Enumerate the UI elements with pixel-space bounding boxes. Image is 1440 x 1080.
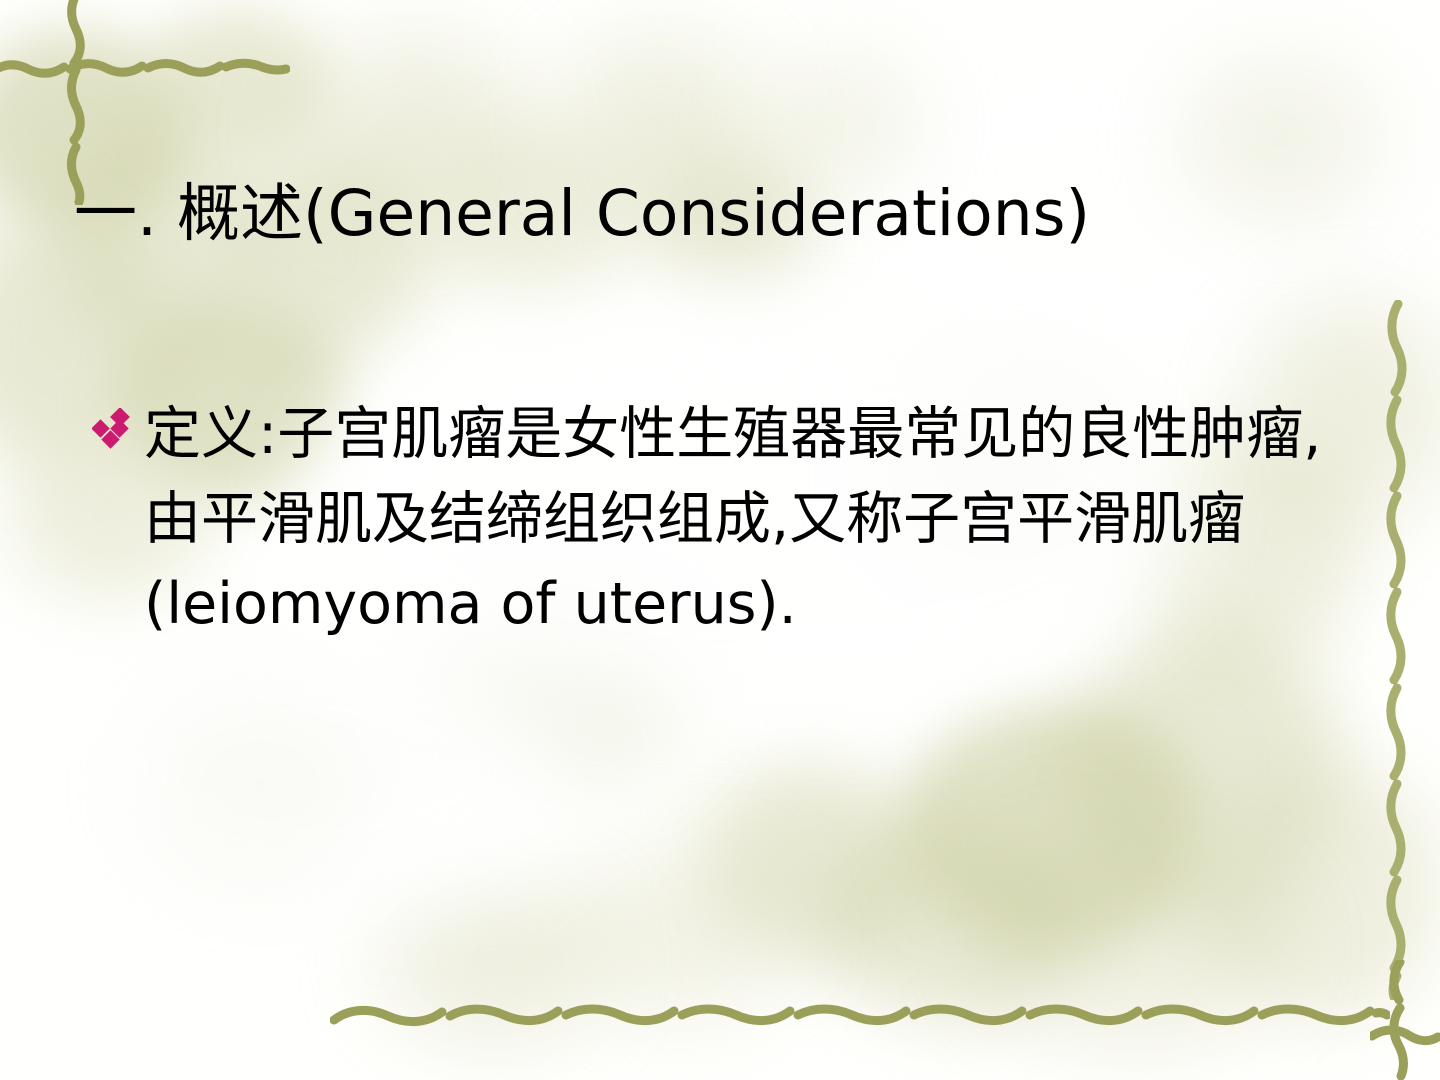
bullet-list-item: 定义:子宫肌瘤是女性生殖器最常见的良性肿瘤,由平滑肌及结缔组织组成,又称子宫平滑… (92, 392, 1332, 647)
top-horizontal-vine-icon (0, 54, 290, 84)
bottom-horizontal-vine-icon (330, 1000, 1390, 1032)
bullet-text: 定义:子宫肌瘤是女性生殖器最常见的良性肿瘤,由平滑肌及结缔组织组成,又称子宫平滑… (144, 392, 1332, 647)
presentation-slide: 一. 概述(General Considerations) 定义:子宫肌瘤是女性… (0, 0, 1440, 1080)
right-vertical-vine-icon (1382, 300, 1412, 1000)
diamond-cluster-bullet-icon (92, 392, 144, 452)
bottom-right-corner-vine-icon (1370, 960, 1440, 1080)
top-vertical-vine-icon (62, 0, 92, 205)
page-title: 一. 概述(General Considerations) (74, 180, 1404, 248)
